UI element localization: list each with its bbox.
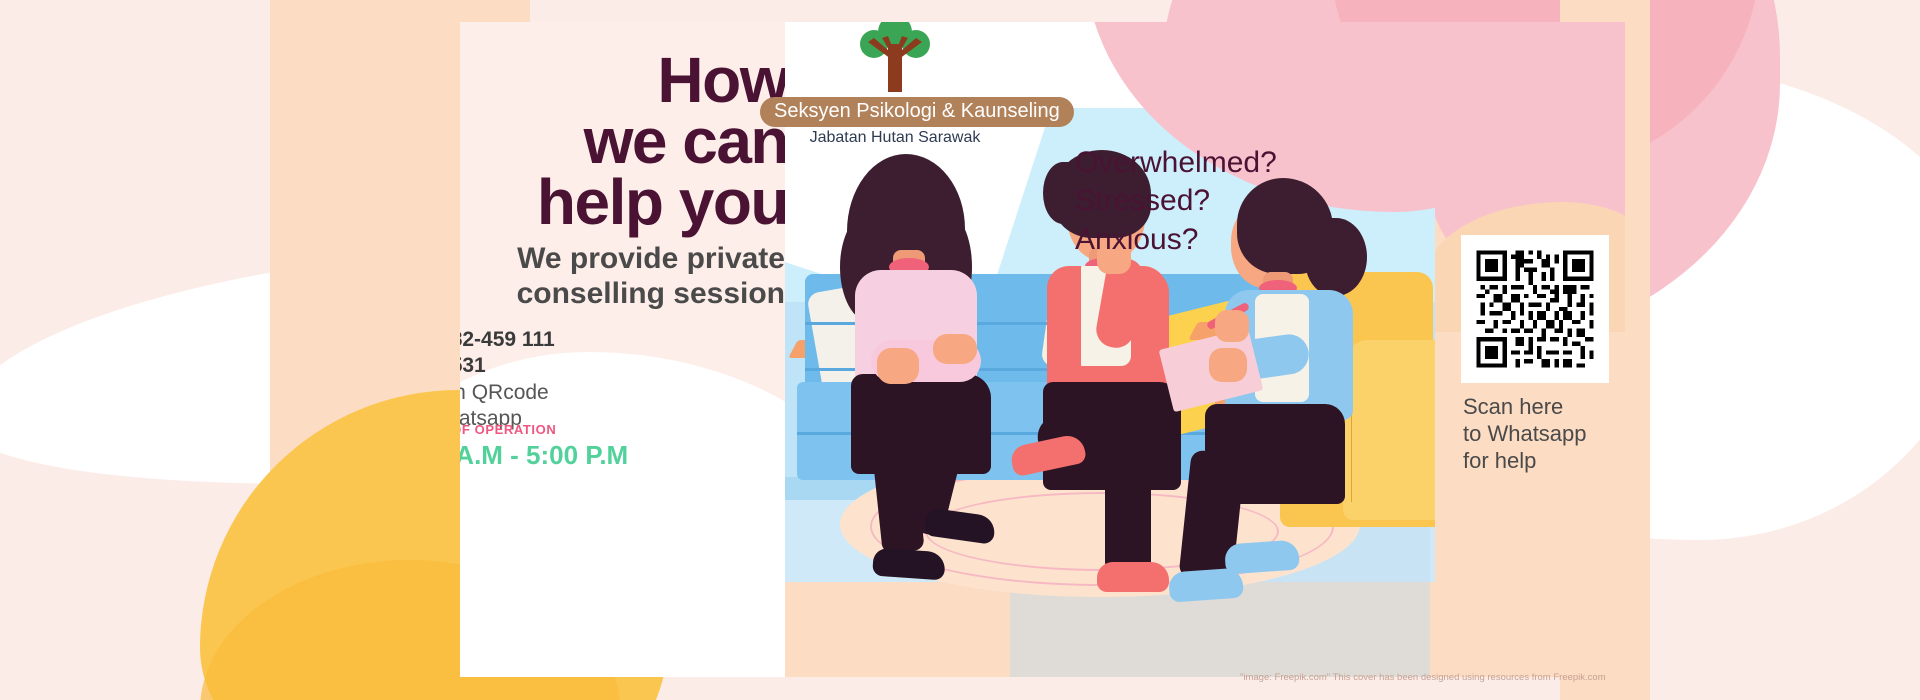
qr-caption-line-2: to Whatsapp <box>1463 421 1625 448</box>
image-credit: "image: Freepik.com" This cover has been… <box>1240 672 1900 683</box>
man-client-shoe-2 <box>1097 562 1169 592</box>
logo-sub-text: Jabatan Hutan Sarawak <box>760 129 1030 147</box>
hours-of-operation-label: HOURS OF OPERATION <box>460 422 785 437</box>
subheadline: We provide private conselling session <box>460 242 785 311</box>
qr-code-icon[interactable] <box>1472 246 1598 372</box>
headline-line-3: help you <box>460 172 785 233</box>
question-1: Overwhelmed? <box>1075 144 1405 182</box>
question-2: Stressed? <box>1075 182 1405 220</box>
poster-banner: How we can help you We provide private c… <box>0 0 1920 700</box>
qr-caption-line-3: for help <box>1463 448 1625 475</box>
woman-client-hand <box>877 348 919 384</box>
poster-left-column: How we can help you We provide private c… <box>460 22 785 677</box>
poster-card: How we can help you We provide private c… <box>460 22 1625 677</box>
hours-of-operation-value: 9:00 A.M - 5:00 P.M <box>460 440 785 471</box>
organization-logo: Seksyen Psikologi & Kaunseling Jabatan H… <box>760 22 1030 147</box>
headline-line-1: How <box>460 50 785 111</box>
armchair-arm <box>1343 340 1435 520</box>
contact-block: Call 082-459 111 ext. 1531 or scan QRcod… <box>460 327 785 432</box>
scan-instruction-line-1: or scan QRcode <box>460 380 785 406</box>
man-client-leg-2 <box>1105 454 1151 572</box>
call-line: Call 082-459 111 <box>460 327 785 353</box>
qr-code-container[interactable] <box>1461 235 1609 383</box>
counselor-shoe-2 <box>1224 539 1300 574</box>
question-3: Anxious? <box>1075 221 1405 259</box>
phone-number[interactable]: 082-459 111 <box>460 328 555 351</box>
subheadline-line-2: conselling session <box>460 277 785 312</box>
tree-icon <box>852 22 938 92</box>
counselor-hand <box>1209 348 1247 382</box>
woman-client-hand-2 <box>933 334 977 364</box>
subheadline-line-1: We provide private <box>460 242 785 277</box>
man-client-cardigan-left <box>1047 266 1081 392</box>
question-list: Overwhelmed? Stressed? Anxious? <box>1075 144 1405 259</box>
logo-pill-text: Seksyen Psikologi & Kaunseling <box>760 97 1074 127</box>
page-title: How we can help you <box>460 50 785 232</box>
qr-caption: Scan here to Whatsapp for help <box>1463 394 1625 474</box>
qr-caption-line-1: Scan here <box>1463 394 1625 421</box>
phone-extension: ext. 1531 <box>460 354 486 377</box>
headline-line-2: we can <box>460 111 785 172</box>
counselor-hand-2 <box>1215 310 1249 342</box>
woman-client-shoe-2 <box>872 548 946 581</box>
